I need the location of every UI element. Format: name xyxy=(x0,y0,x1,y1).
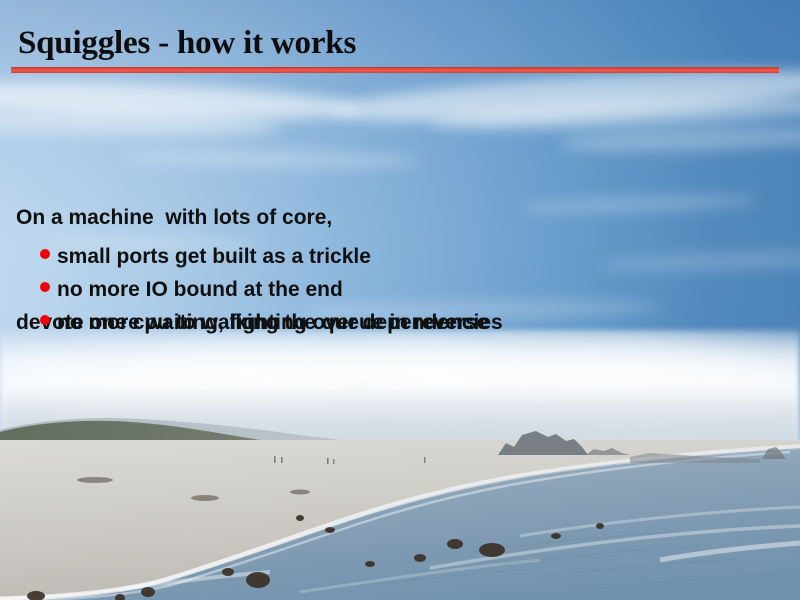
title-underline-rule xyxy=(11,67,779,73)
bullet-label: no more waiting, fighting over dependenc… xyxy=(57,306,503,339)
intro-line-1: On a machine with lots of core, xyxy=(16,200,776,235)
bullet-list: small ports get built as a trickle no mo… xyxy=(40,240,780,339)
bullet-dot-icon xyxy=(40,315,50,325)
bullet-dot-icon xyxy=(40,282,50,292)
list-item: no more IO bound at the end xyxy=(40,273,780,306)
page-title: Squiggles - how it works xyxy=(18,24,356,62)
distant-beach-figures xyxy=(0,448,800,472)
list-item: no more waiting, fighting over dependenc… xyxy=(40,306,780,339)
list-item: small ports get built as a trickle xyxy=(40,240,780,273)
presentation-slide: Squiggles - how it works On a machine wi… xyxy=(0,0,800,600)
bullet-dot-icon xyxy=(40,249,50,259)
bullet-label: no more IO bound at the end xyxy=(57,273,343,306)
bullet-label: small ports get built as a trickle xyxy=(57,240,371,273)
